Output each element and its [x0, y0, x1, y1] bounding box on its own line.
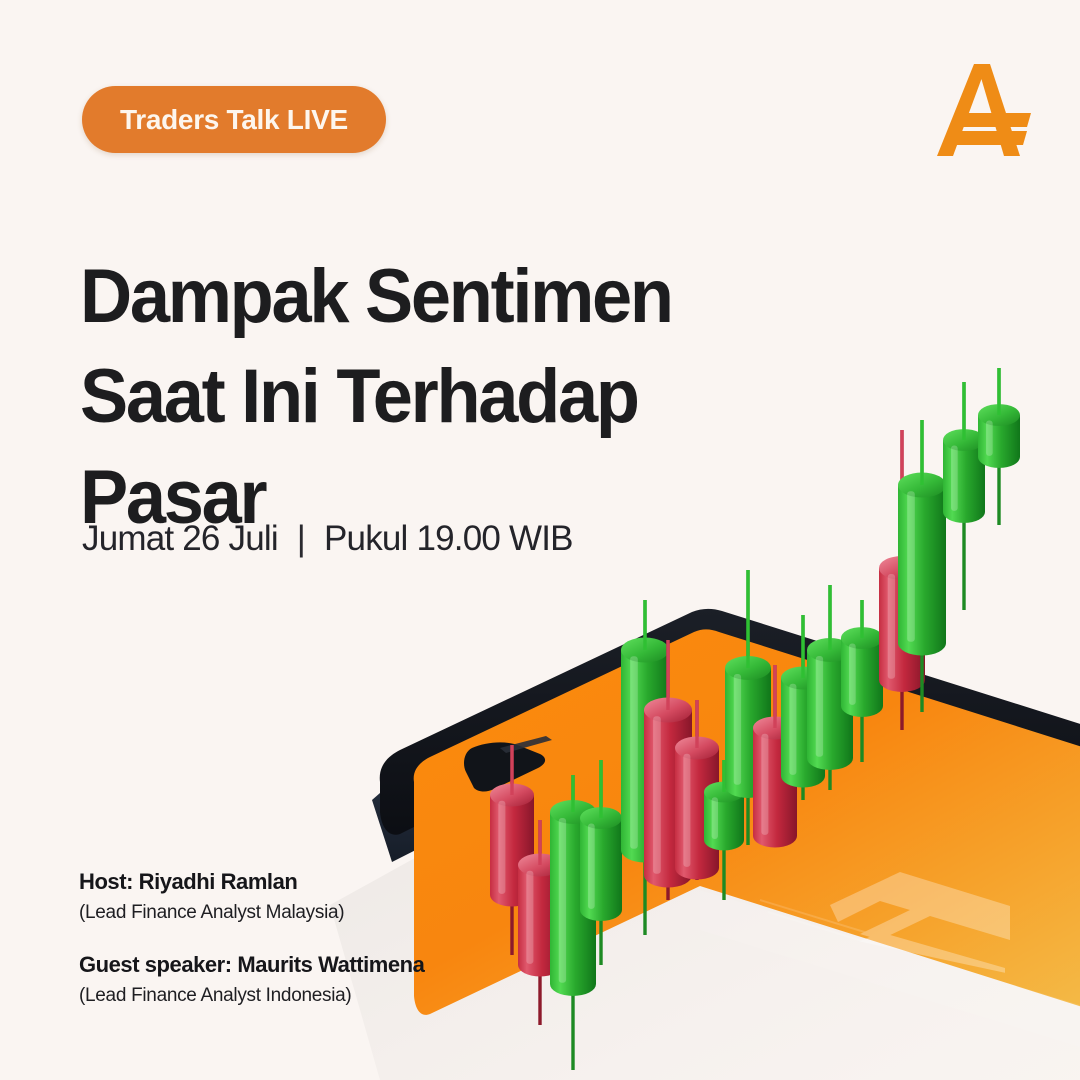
page-title-line-1: Dampak Sentimen	[80, 247, 764, 347]
candle-14-bearish	[879, 430, 925, 730]
guest-name: Guest speaker: Maurits Wattimena	[79, 951, 424, 980]
candle-body	[675, 748, 719, 879]
speaker-credits: Host: Riyadhi Ramlan (Lead Finance Analy…	[79, 868, 424, 1008]
host-role: (Lead Finance Analyst Malaysia)	[79, 900, 424, 926]
candle-body	[807, 650, 853, 770]
candle-17-bullish	[978, 368, 1020, 525]
candle-body	[898, 485, 946, 655]
candle-top-cap	[943, 429, 985, 451]
candle-highlight	[816, 656, 823, 757]
candle-9-bullish	[725, 570, 771, 845]
candle-top-cap	[841, 627, 883, 649]
page-title: Dampak Sentimen Saat Ini Terhadap Pasar	[80, 247, 764, 548]
live-badge-label: Traders Talk LIVE	[120, 104, 348, 136]
candle-16-bullish	[943, 382, 985, 610]
live-badge[interactable]: Traders Talk LIVE	[82, 86, 386, 153]
candle-top-cap	[675, 737, 719, 760]
host-credit: Host: Riyadhi Ramlan (Lead Finance Analy…	[79, 868, 424, 925]
candle-highlight	[761, 734, 768, 835]
candle-highlight	[526, 871, 533, 964]
candle-12-bullish	[807, 585, 853, 790]
candle-2-bearish	[518, 820, 562, 1025]
candle-highlight	[559, 818, 566, 983]
candle-highlight	[498, 801, 505, 894]
candle-8-bullish	[704, 760, 744, 900]
candle-top-cap	[580, 807, 622, 829]
candle-highlight	[849, 643, 856, 704]
candle-4-bullish	[580, 760, 622, 965]
candle-highlight	[683, 754, 690, 867]
candle-body	[550, 812, 596, 996]
guest-credit: Guest speaker: Maurits Wattimena (Lead F…	[79, 951, 424, 1008]
poster-canvas: Traders Talk LIVE Dampak Sentimen Saat I…	[0, 0, 1080, 1080]
candle-top-cap	[978, 404, 1020, 426]
candle-body	[753, 728, 797, 847]
event-datetime: Jumat 26 Juli | Pukul 19.00 WIB	[82, 519, 573, 559]
candle-15-bullish	[898, 420, 946, 712]
candle-body	[621, 650, 669, 862]
candle-top-cap	[807, 638, 853, 662]
candle-highlight	[734, 674, 741, 785]
candle-3-bullish	[550, 775, 596, 1070]
candle-highlight	[951, 445, 958, 510]
candle-highlight	[588, 823, 595, 908]
candle-body	[841, 638, 883, 717]
candle-13-bullish	[841, 600, 883, 762]
candle-top-cap	[490, 784, 534, 807]
candle-top-cap	[781, 667, 825, 690]
guest-role: (Lead Finance Analyst Indonesia)	[79, 983, 424, 1009]
host-name: Host: Riyadhi Ramlan	[79, 868, 424, 897]
candle-top-cap	[704, 782, 744, 803]
candle-top-cap	[879, 556, 925, 580]
candle-body	[781, 678, 825, 787]
candle-7-bearish	[675, 700, 719, 880]
candle-11-bullish	[781, 615, 825, 800]
candle-top-cap	[644, 698, 692, 723]
candle-1-bearish	[490, 745, 534, 955]
letter-a-currency-logo-icon	[937, 64, 1031, 156]
candle-body	[518, 865, 562, 976]
candle-highlight	[712, 797, 718, 839]
candle-highlight	[653, 716, 661, 874]
candle-highlight	[888, 574, 895, 679]
page-title-line-2: Saat Ini Terhadap	[80, 347, 764, 447]
candle-5-bullish	[621, 600, 669, 935]
candle-body	[978, 415, 1020, 468]
candle-body	[725, 668, 771, 798]
candle-body	[943, 440, 985, 523]
event-time: Pukul 19.00 WIB	[324, 519, 573, 558]
candle-highlight	[986, 420, 993, 455]
candle-body	[490, 795, 534, 906]
candle-body	[704, 792, 744, 850]
event-date: Jumat 26 Juli	[82, 519, 278, 558]
candle-6-bearish	[644, 640, 692, 900]
candle-body	[580, 818, 622, 921]
candle-top-cap	[621, 638, 669, 663]
candle-highlight	[630, 656, 638, 849]
datetime-separator: |	[297, 519, 305, 559]
candle-body	[879, 568, 925, 692]
candle-top-cap	[550, 800, 596, 824]
candle-top-cap	[518, 854, 562, 877]
candle-highlight	[907, 491, 915, 642]
candle-top-cap	[725, 656, 771, 680]
candle-body	[644, 710, 692, 887]
candle-top-cap	[898, 473, 946, 498]
candle-highlight	[789, 684, 796, 775]
candle-top-cap	[753, 717, 797, 740]
brand-logo	[930, 58, 1040, 163]
candle-10-bearish	[753, 665, 797, 847]
